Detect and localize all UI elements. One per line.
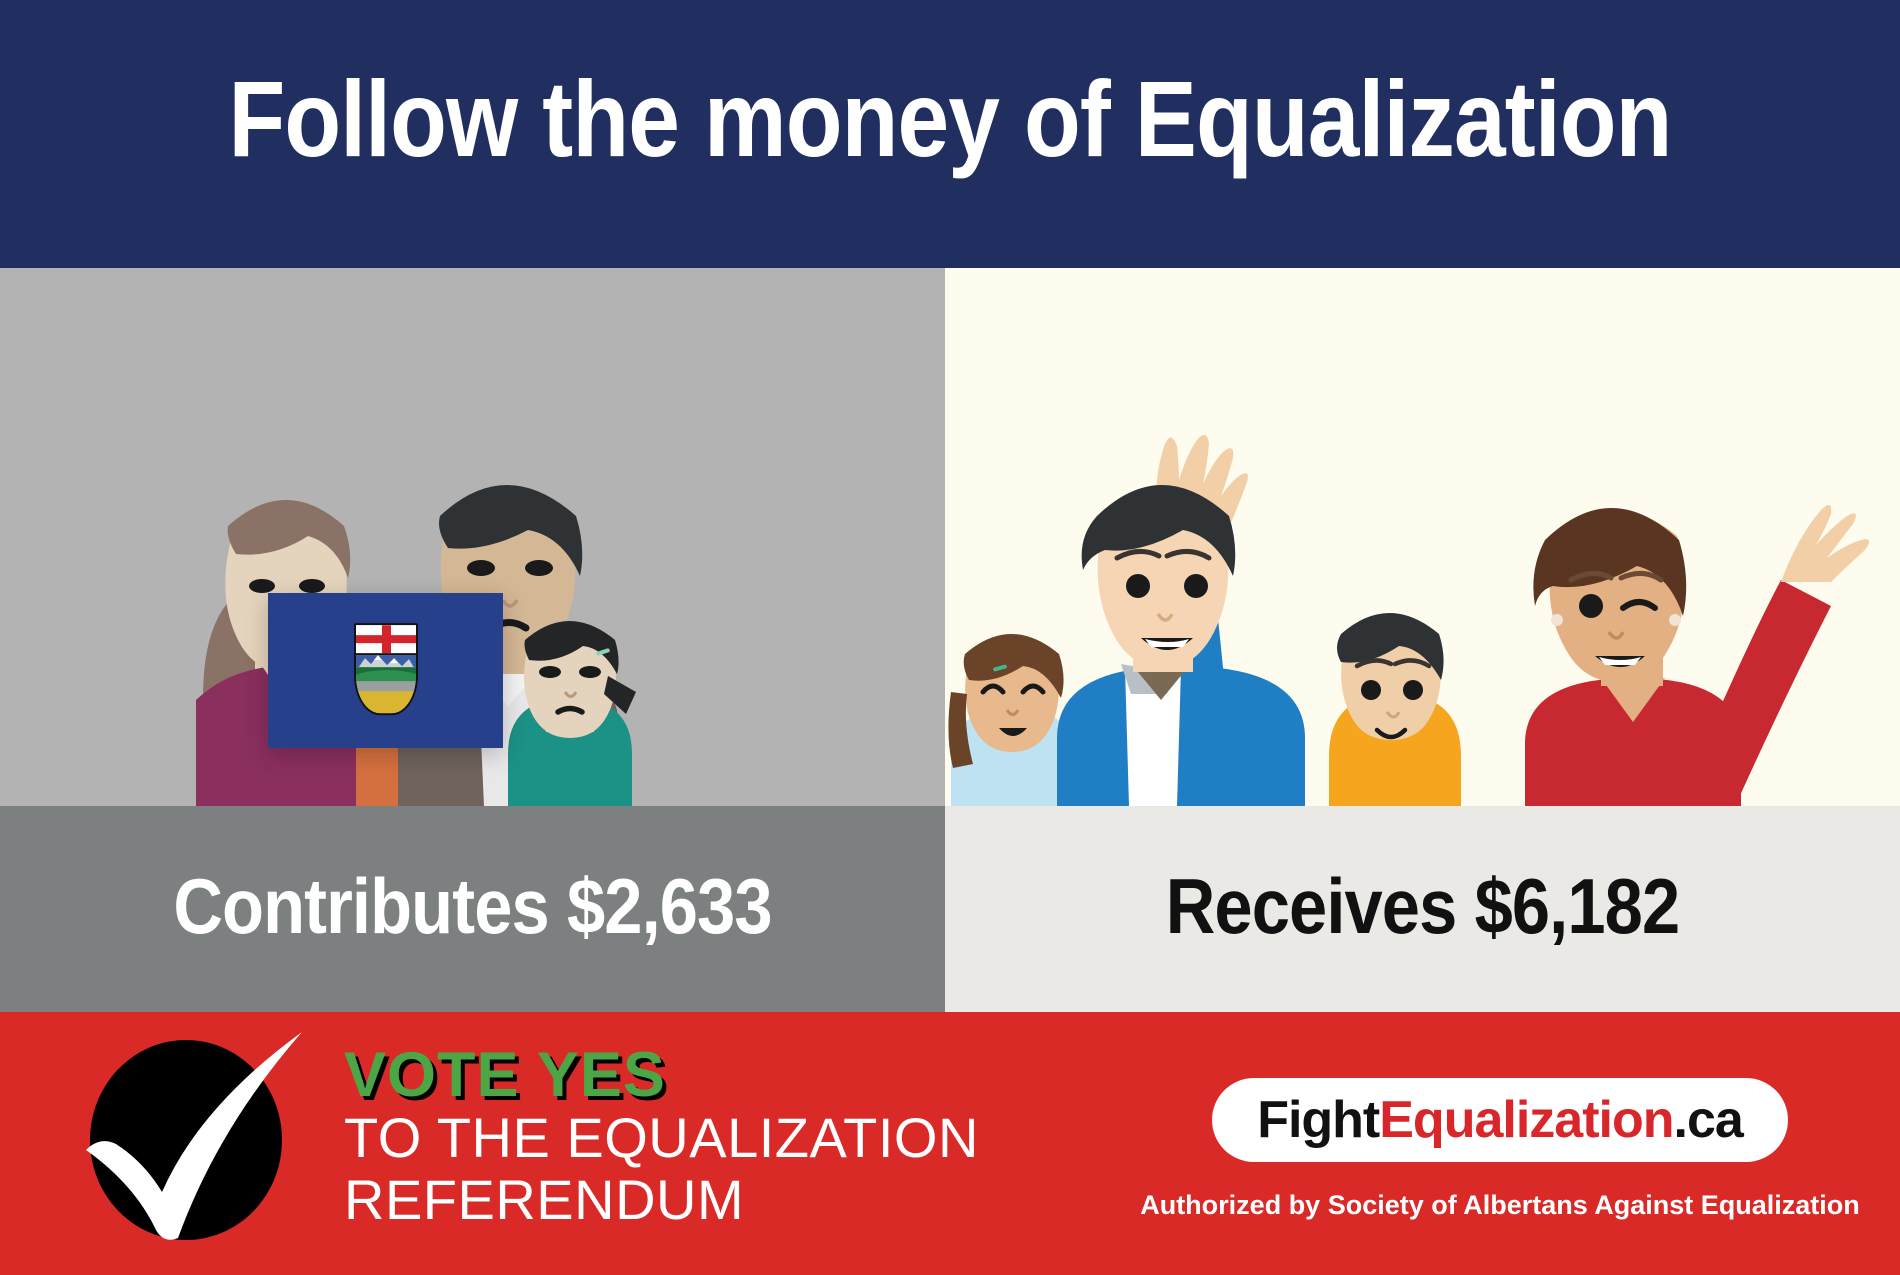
infographic-poster: Follow the money of Equalization <box>0 0 1900 1275</box>
vote-subline-1: TO THE EQUALIZATION <box>344 1107 984 1169</box>
header-banner: Follow the money of Equalization <box>0 0 1900 268</box>
alberta-shield-icon <box>354 623 418 715</box>
figure-mother <box>1525 508 1741 806</box>
url-part-fight: Fight <box>1257 1091 1379 1149</box>
figure-boy <box>1329 613 1461 806</box>
authorization-notice: Authorized by Society of Albertans Again… <box>1100 1190 1900 1221</box>
checkmark-logo[interactable] <box>78 1030 308 1255</box>
caption-band-alberta: Contributes $2,633 <box>0 806 945 1012</box>
caption-band-quebec: Receives $6,182 <box>945 806 1900 1012</box>
panel-quebec <box>945 268 1900 806</box>
url-part-equalization: Equalization <box>1379 1091 1673 1149</box>
figure-girl <box>508 621 636 806</box>
website-pill[interactable]: FightEqualization.ca <box>1212 1078 1788 1162</box>
vote-yes-headline: VOTE YES <box>344 1043 984 1107</box>
figure-father <box>1057 485 1305 806</box>
figure-girl <box>948 634 1075 806</box>
vote-yes-block: VOTE YES TO THE EQUALIZATION REFERENDUM <box>344 1043 984 1231</box>
url-part-tld: .ca <box>1674 1091 1743 1149</box>
vote-subline-2: REFERENDUM <box>344 1169 984 1231</box>
alberta-amount-label: Contributes $2,633 <box>57 858 889 954</box>
panel-alberta <box>0 268 945 806</box>
quebec-amount-label: Receives $6,182 <box>1002 858 1842 954</box>
page-title: Follow the money of Equalization <box>133 60 1767 178</box>
alberta-flag <box>268 593 503 748</box>
happy-family-illustration <box>945 268 1900 806</box>
